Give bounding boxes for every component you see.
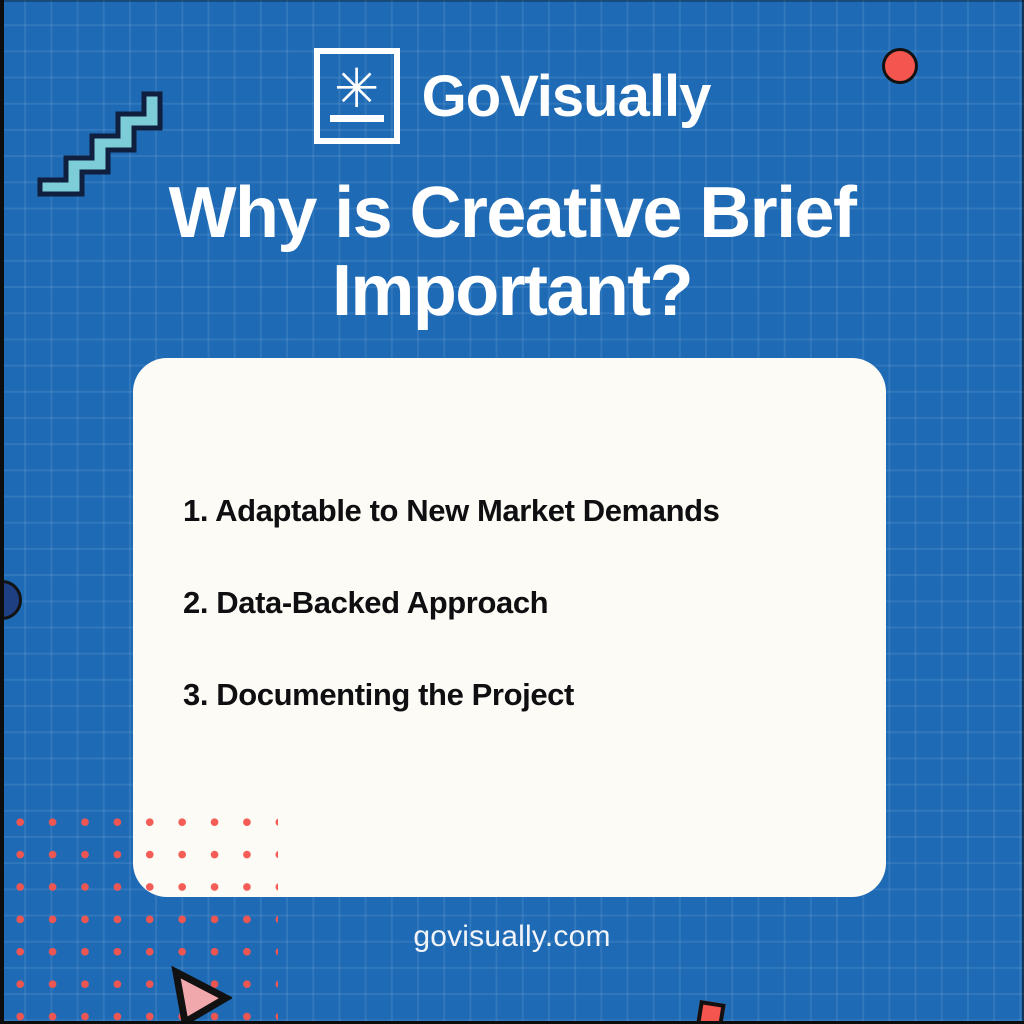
asterisk-icon: ✳ [334,72,379,106]
poster-canvas: ✳ GoVisually Why is Creative Brief Impor… [0,0,1024,1024]
list-item: 2. Data-Backed Approach [183,586,852,620]
footer-website-url: govisually.com [0,920,1024,954]
frame-edge-top [0,0,1024,2]
brand-name: GoVisually [422,63,711,130]
frame-edge-left [0,0,4,1024]
reasons-list: 1. Adaptable to New Market Demands 2. Da… [183,494,852,712]
brand-header: ✳ GoVisually [0,48,1024,144]
list-item: 3. Documenting the Project [183,678,852,712]
logo-underbar [330,115,384,122]
list-item: 1. Adaptable to New Market Demands [183,494,852,528]
page-title: Why is Creative Brief Important? [60,174,964,330]
content-card: 1. Adaptable to New Market Demands 2. Da… [133,358,886,897]
pink-triangle-icon [168,966,232,1024]
govisually-logo-icon: ✳ [314,48,400,144]
